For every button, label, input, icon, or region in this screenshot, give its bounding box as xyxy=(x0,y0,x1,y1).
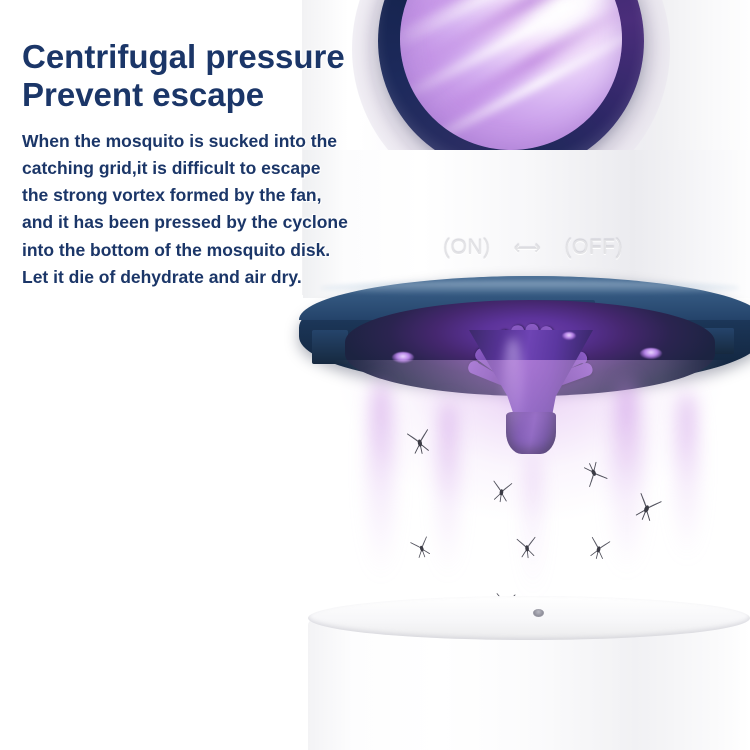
mosquito-icon xyxy=(512,535,543,565)
uv-led-glint xyxy=(640,348,662,359)
page-title: Centrifugal pressure Prevent escape xyxy=(22,38,422,115)
mosquito-icon xyxy=(485,478,517,509)
tray-drain-hole xyxy=(533,609,544,617)
uv-light-streak xyxy=(438,400,458,580)
switch-on-label: (ON) xyxy=(443,236,491,260)
product-marketing-image: (ON) ⟷ (OFF) xyxy=(0,0,750,750)
uv-light-streak xyxy=(612,380,642,575)
collection-tray-rim xyxy=(308,596,750,640)
switch-off-label: (OFF) xyxy=(565,236,623,260)
description-paragraph: When the mosquito is sucked into the cat… xyxy=(22,128,422,291)
uv-light-streak xyxy=(524,452,542,602)
uv-light-streak xyxy=(676,392,698,562)
switch-arrow-icon: ⟷ xyxy=(514,237,542,260)
housing-tab xyxy=(312,330,348,364)
uv-light-streak xyxy=(368,380,394,580)
power-switch-legend: (ON) ⟷ (OFF) xyxy=(443,236,623,260)
uv-led-glint xyxy=(562,332,576,340)
